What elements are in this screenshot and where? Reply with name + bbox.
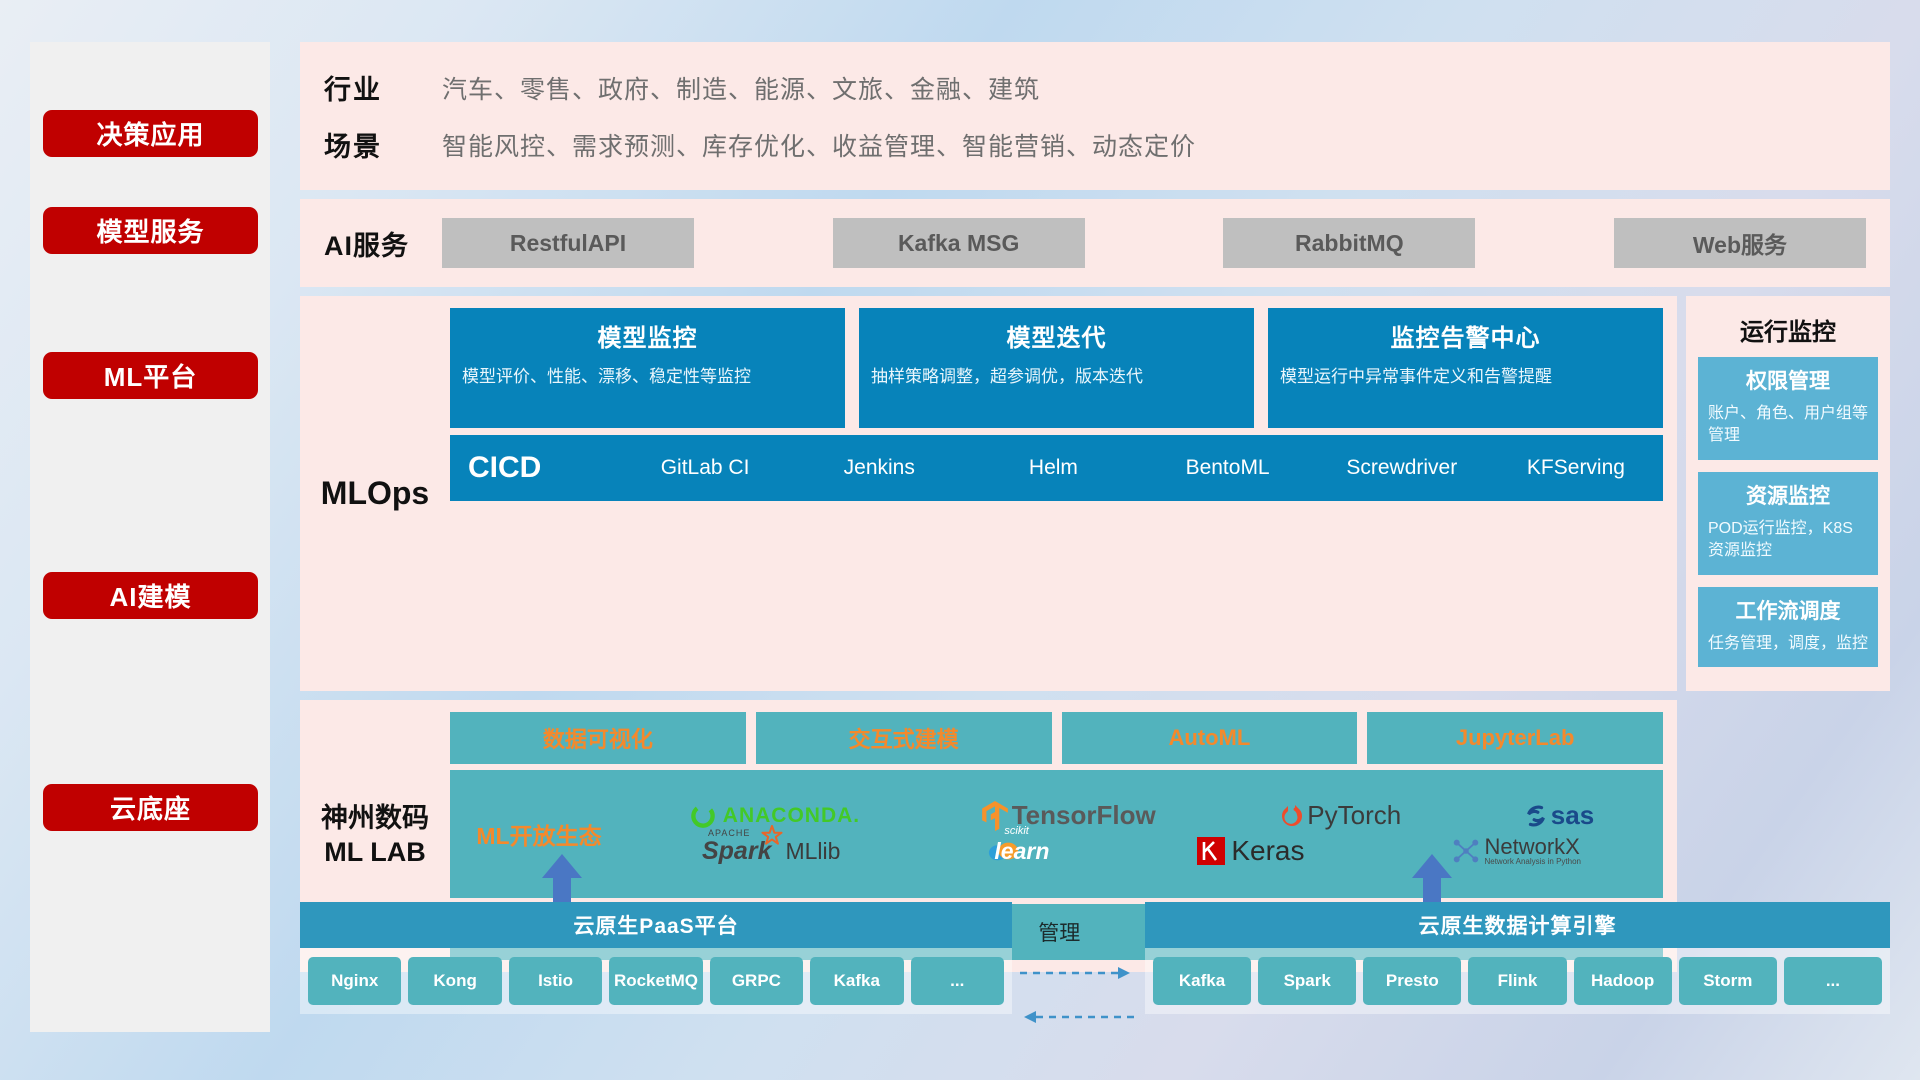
card-desc: 模型运行中异常事件定义和告警提醒 <box>1280 365 1651 390</box>
sas-logo: sas <box>1523 800 1594 831</box>
industry-label: 行业 <box>324 68 442 107</box>
rail-label: ML平台 <box>104 357 198 394</box>
paas-title: 云原生PaaS平台 <box>300 902 1012 948</box>
spark-apache-label: APACHE <box>708 828 750 838</box>
networkx-sublabel: Network Analysis in Python <box>1484 858 1581 866</box>
lab-tool-data-visualization[interactable]: 数据可视化 <box>450 712 746 764</box>
ai-chip-rabbitmq[interactable]: RabbitMQ <box>1223 218 1475 268</box>
ai-chip-web-service[interactable]: Web服务 <box>1614 218 1866 268</box>
pytorch-logo: PyTorch <box>1277 800 1401 831</box>
arrow-left-dashed-icon <box>1018 1008 1138 1026</box>
spark-mllib-logo: APACHE Spark MLlib <box>702 837 840 866</box>
mlops-label: MLOps <box>300 308 450 679</box>
networkx-icon <box>1452 838 1480 864</box>
runtime-monitoring-title: 运行监控 <box>1698 306 1878 357</box>
card-title: 模型迭代 <box>871 318 1242 353</box>
ai-chip-restfulapi[interactable]: RestfulAPI <box>442 218 694 268</box>
left-rail: 决策应用 模型服务 ML平台 AI建模 云底座 <box>30 42 270 1032</box>
cicd-label: CICD <box>468 451 618 485</box>
cicd-item-bentoml[interactable]: BentoML <box>1141 457 1315 479</box>
engine-chip-presto[interactable]: Presto <box>1363 957 1461 1005</box>
scenario-value: 智能风控、需求预测、库存优化、收益管理、智能营销、动态定价 <box>442 127 1196 163</box>
paas-chip-rocketmq[interactable]: RocketMQ <box>609 957 702 1005</box>
cicd-item-screwdriver[interactable]: Screwdriver <box>1315 457 1489 479</box>
rail-label: 云底座 <box>110 789 191 826</box>
rail-label: 模型服务 <box>96 212 204 249</box>
rail-item-cloud-base[interactable]: 云底座 <box>43 784 258 831</box>
card-desc: 任务管理，调度，监控 <box>1708 633 1868 655</box>
mlops-card-model-monitoring[interactable]: 模型监控 模型评价、性能、漂移、稳定性等监控 <box>450 308 845 428</box>
card-desc: 模型评价、性能、漂移、稳定性等监控 <box>462 365 833 390</box>
cicd-bar: CICD GitLab CI Jenkins Helm BentoML Scre… <box>450 435 1663 501</box>
anaconda-icon <box>689 802 717 830</box>
paas-chip-kong[interactable]: Kong <box>408 957 501 1005</box>
ml-open-ecosystem-label: ML开放生态 <box>450 817 628 851</box>
engine-chip-storm[interactable]: Storm <box>1679 957 1777 1005</box>
paas-chip-nginx[interactable]: Nginx <box>308 957 401 1005</box>
main-content: 行业 汽车、零售、政府、制造、能源、文旅、金融、建筑 场景 智能风控、需求预测、… <box>300 42 1890 972</box>
keras-icon <box>1197 837 1225 865</box>
ai-service-band: AI服务 RestfulAPI Kafka MSG RabbitMQ Web服务 <box>300 199 1890 287</box>
engine-chip-more[interactable]: ... <box>1784 957 1882 1005</box>
tensorflow-label: TensorFlow <box>1012 800 1156 831</box>
ml-open-ecosystem: ML开放生态 ANACONDA. <box>450 770 1663 898</box>
cicd-item-helm[interactable]: Helm <box>966 457 1140 479</box>
scikit-learn-logo: scikit learn <box>988 838 1049 865</box>
cicd-item-gitlab-ci[interactable]: GitLab CI <box>618 457 792 479</box>
industry-row: 行业 汽车、零售、政府、制造、能源、文旅、金融、建筑 <box>324 68 1890 107</box>
cicd-item-kfserving[interactable]: KFServing <box>1489 457 1663 479</box>
ops-card-permission-management[interactable]: 权限管理 账户、角色、用户组等管理 <box>1698 357 1878 460</box>
rail-item-ml-platform[interactable]: ML平台 <box>43 352 258 399</box>
mllib-label: MLlib <box>785 838 840 865</box>
lab-tool-interactive-modeling[interactable]: 交互式建模 <box>756 712 1052 764</box>
mlops-band: MLOps 模型监控 模型评价、性能、漂移、稳定性等监控 模型迭代 抽样策略调整… <box>300 296 1677 691</box>
scenario-row: 场景 智能风控、需求预测、库存优化、收益管理、智能营销、动态定价 <box>324 125 1890 164</box>
arrow-right-dashed-icon <box>1018 964 1138 982</box>
ai-service-label: AI服务 <box>324 224 442 263</box>
paas-chip-kafka[interactable]: Kafka <box>810 957 903 1005</box>
networkx-logo: NetworkX Network Analysis in Python <box>1452 836 1581 866</box>
engine-chip-flink[interactable]: Flink <box>1468 957 1566 1005</box>
rail-item-ai-modeling[interactable]: AI建模 <box>43 572 258 619</box>
ops-card-resource-monitoring[interactable]: 资源监控 POD运行监控，K8S资源监控 <box>1698 472 1878 575</box>
rail-item-decision-apps[interactable]: 决策应用 <box>43 110 258 157</box>
mlops-card-alert-center[interactable]: 监控告警中心 模型运行中异常事件定义和告警提醒 <box>1268 308 1663 428</box>
cicd-item-jenkins[interactable]: Jenkins <box>792 457 966 479</box>
rail-label: 决策应用 <box>96 115 204 152</box>
card-title: 权限管理 <box>1708 365 1868 395</box>
engine-chip-hadoop[interactable]: Hadoop <box>1574 957 1672 1005</box>
scikit-label: scikit <box>1004 825 1028 837</box>
card-desc: 抽样策略调整，超参调优，版本迭代 <box>871 365 1242 390</box>
scenario-label: 场景 <box>324 125 442 164</box>
engine-chip-spark[interactable]: Spark <box>1258 957 1356 1005</box>
card-title: 工作流调度 <box>1708 595 1868 625</box>
pytorch-label: PyTorch <box>1307 800 1401 831</box>
networkx-label: NetworkX <box>1484 836 1581 858</box>
rail-label: AI建模 <box>109 577 191 614</box>
ops-card-workflow-scheduling[interactable]: 工作流调度 任务管理，调度，监控 <box>1698 587 1878 667</box>
ml-platform-section: MLOps 模型监控 模型评价、性能、漂移、稳定性等监控 模型迭代 抽样策略调整… <box>300 296 1890 691</box>
sas-icon <box>1523 803 1549 829</box>
card-title: 监控告警中心 <box>1280 318 1651 353</box>
keras-label: Keras <box>1231 835 1304 867</box>
rail-item-model-service[interactable]: 模型服务 <box>43 207 258 254</box>
decision-apps-band: 行业 汽车、零售、政府、制造、能源、文旅、金融、建筑 场景 智能风控、需求预测、… <box>300 42 1890 190</box>
mlops-card-model-iteration[interactable]: 模型迭代 抽样策略调整，超参调优，版本迭代 <box>859 308 1254 428</box>
paas-platform: 云原生PaaS平台 Nginx Kong Istio RocketMQ GRPC… <box>300 902 1012 1014</box>
lab-tool-jupyterlab[interactable]: JupyterLab <box>1367 712 1663 764</box>
paas-chip-more[interactable]: ... <box>911 957 1004 1005</box>
keras-logo: Keras <box>1197 835 1304 867</box>
anaconda-label: ANACONDA. <box>723 804 860 828</box>
cloud-foundation-section: 云原生PaaS平台 Nginx Kong Istio RocketMQ GRPC… <box>300 880 1890 1030</box>
card-desc: 账户、角色、用户组等管理 <box>1708 403 1868 448</box>
card-desc: POD运行监控，K8S资源监控 <box>1708 518 1868 563</box>
paas-chip-istio[interactable]: Istio <box>509 957 602 1005</box>
sas-label: sas <box>1551 800 1594 831</box>
ml-lab-label-line2: ML LAB <box>324 836 426 870</box>
learn-label: learn <box>994 838 1049 864</box>
runtime-monitoring-sidebar: 运行监控 权限管理 账户、角色、用户组等管理 资源监控 POD运行监控，K8S资… <box>1686 296 1890 691</box>
ai-chip-kafka-msg[interactable]: Kafka MSG <box>833 218 1085 268</box>
card-title: 资源监控 <box>1708 480 1868 510</box>
spark-star-icon <box>761 825 783 847</box>
paas-chip-grpc[interactable]: GRPC <box>710 957 803 1005</box>
lab-tool-automl[interactable]: AutoML <box>1062 712 1358 764</box>
data-compute-engine: 云原生数据计算引擎 Kafka Spark Presto Flink Hadoo… <box>1145 902 1890 1014</box>
engine-chip-kafka[interactable]: Kafka <box>1153 957 1251 1005</box>
pytorch-icon <box>1277 802 1303 830</box>
engine-title: 云原生数据计算引擎 <box>1145 902 1890 948</box>
card-title: 模型监控 <box>462 318 833 353</box>
industry-value: 汽车、零售、政府、制造、能源、文旅、金融、建筑 <box>442 70 1040 106</box>
ml-lab-label-line1: 神州数码 <box>321 802 429 836</box>
